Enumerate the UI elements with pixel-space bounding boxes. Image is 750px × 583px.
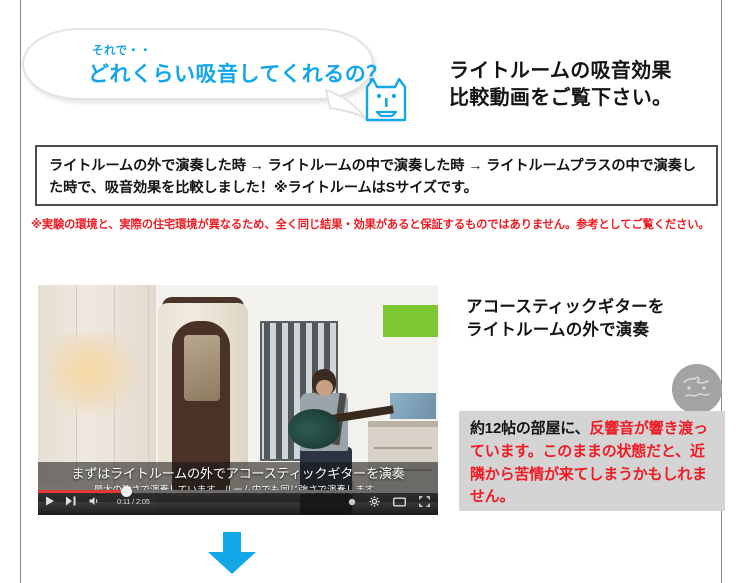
bubble-main-text: どれくらい吸音してくれるの？ xyxy=(88,58,388,88)
fullscreen-icon[interactable] xyxy=(419,496,430,507)
theater-mode-icon[interactable] xyxy=(393,497,406,507)
subtitles-icon[interactable] xyxy=(348,498,356,506)
video-monitor xyxy=(390,393,436,419)
video-blind-slat xyxy=(276,323,282,459)
page-title-line1: ライトルームの吸音効果 xyxy=(449,58,719,85)
note-text-black: 約12帖の部屋に、 xyxy=(470,420,589,437)
worried-face-icon xyxy=(672,364,722,414)
video-booth-window xyxy=(184,335,220,401)
video-progress-played xyxy=(38,490,126,493)
video-blind-slat xyxy=(264,323,270,459)
section-subtitle-line2: ライトルームの外で演奏 xyxy=(466,319,726,342)
down-arrow-icon xyxy=(205,530,259,576)
gear-icon[interactable] xyxy=(369,496,380,507)
video-drawer-line xyxy=(374,447,432,449)
note-box: 約12帖の部屋に、反響音が響き渡っています。このままの状態だと、近隣から苦情が来… xyxy=(459,411,725,511)
section-subtitle-line1: アコースティックギターを xyxy=(466,296,726,319)
page-title-line2: 比較動画をご覧下さい。 xyxy=(449,85,719,112)
cat-mascot-icon xyxy=(360,74,412,124)
note-text: 約12帖の部屋に、反響音が響き渡っています。このままの状態だと、近隣から苦情が来… xyxy=(470,418,718,509)
statement-box: ライトルームの外で演奏した時 → ライトルームの中で演奏した時 → ライトルーム… xyxy=(35,145,718,206)
next-track-icon[interactable] xyxy=(66,496,78,506)
page-title: ライトルームの吸音効果 比較動画をご覧下さい。 xyxy=(449,58,719,112)
video-guitar-body xyxy=(288,409,340,449)
video-caption-main: まずはライトルームの外でアコースティックギターを演奏 xyxy=(38,463,438,482)
video-player[interactable]: まずはライトルームの外でアコースティックギターを演奏 最大の強さで演奏しています… xyxy=(38,285,438,515)
section-subtitle: アコースティックギターを ライトルームの外で演奏 xyxy=(466,296,726,343)
video-person-face xyxy=(316,380,333,396)
video-wall-light xyxy=(46,333,142,419)
video-time-display: 0:11 / 2:05 xyxy=(117,497,150,506)
bubble-small-text: それで・・ xyxy=(92,42,152,58)
statement-text: ライトルームの外で演奏した時 → ライトルームの中で演奏した時 → ライトルーム… xyxy=(49,155,709,199)
video-right-controls xyxy=(348,496,430,507)
video-cabinet-seam xyxy=(148,285,149,485)
video-left-controls: 0:11 / 2:05 xyxy=(45,496,150,506)
video-green-panel xyxy=(383,305,438,337)
speech-bubble-group: それで・・ どれくらい吸音してくれるの？ xyxy=(22,28,392,120)
play-icon[interactable] xyxy=(45,496,55,506)
disclaimer-text: ※実験の環境と、実際の住宅環境が異なるため、全く同じ結果・効果があると保証するも… xyxy=(31,216,721,232)
video-desk-top xyxy=(368,421,438,427)
volume-icon[interactable] xyxy=(89,496,101,506)
